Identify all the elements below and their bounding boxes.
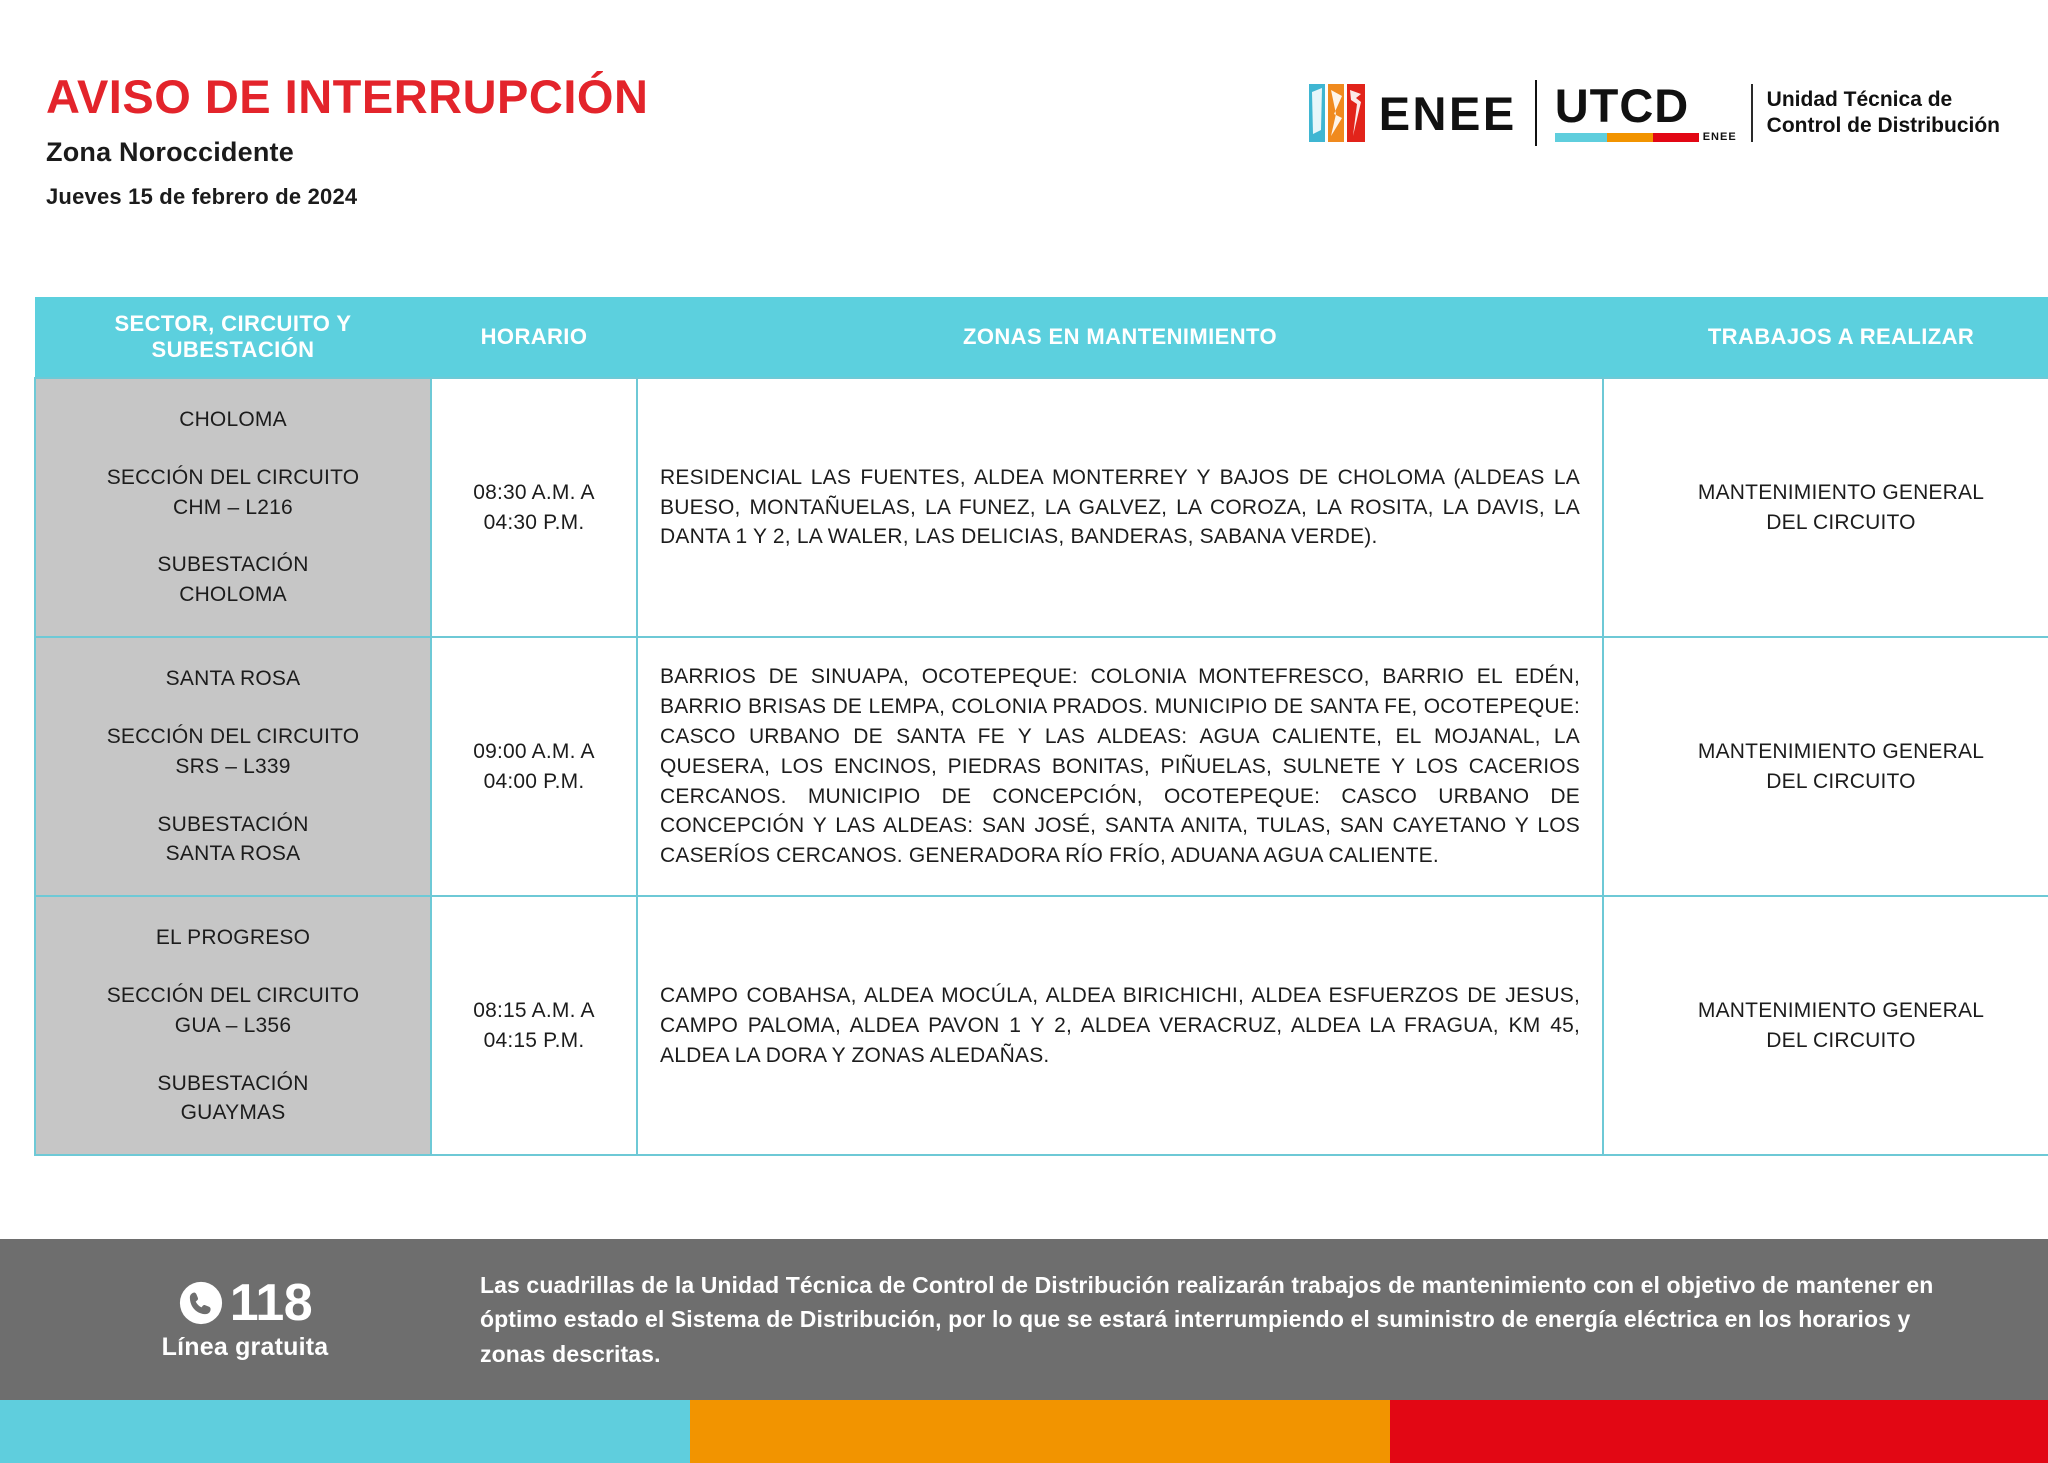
horario-end: 04:00 P.M. [438, 767, 630, 797]
hotline-number: 118 [230, 1277, 312, 1329]
cell-sector: CHOLOMA SECCIÓN DEL CIRCUITO CHM – L216 … [35, 378, 431, 637]
circuit-label: SECCIÓN DEL CIRCUITO [52, 981, 414, 1011]
zone-subtitle: Zona Noroccidente [46, 137, 648, 168]
logo-divider-1 [1535, 80, 1537, 146]
utcd-wordmark: UTCD [1555, 84, 1737, 129]
strip-segment-cyan [0, 1400, 690, 1463]
substation-label: SUBESTACIÓN [52, 550, 414, 580]
utcd-bar-red [1653, 133, 1699, 142]
table-row: EL PROGRESO SECCIÓN DEL CIRCUITO GUA – L… [35, 896, 2048, 1155]
substation-name: SANTA ROSA [52, 839, 414, 869]
trabajos-line-1: MANTENIMIENTO GENERAL [1624, 478, 2048, 508]
horario-start: 08:30 A.M. A [438, 478, 630, 508]
column-header-zonas: ZONAS EN MANTENIMIENTO [637, 297, 1603, 378]
trabajos-line-2: DEL CIRCUITO [1624, 767, 2048, 797]
hotline-row: 118 [10, 1277, 480, 1329]
cell-trabajos: MANTENIMIENTO GENERAL DEL CIRCUITO [1603, 378, 2048, 637]
sector-name: CHOLOMA [52, 405, 414, 435]
utcd-description: Unidad Técnica de Control de Distribució… [1767, 87, 2000, 138]
bottom-color-strip [0, 1400, 2048, 1463]
table-row: SANTA ROSA SECCIÓN DEL CIRCUITO SRS – L3… [35, 637, 2048, 896]
cell-horario: 08:15 A.M. A 04:15 P.M. [431, 896, 637, 1155]
horario-end: 04:15 P.M. [438, 1026, 630, 1056]
cell-trabajos: MANTENIMIENTO GENERAL DEL CIRCUITO [1603, 896, 2048, 1155]
circuit-code: CHM – L216 [52, 493, 414, 523]
hotline-block: 118 Línea gratuita [0, 1277, 480, 1362]
substation-label: SUBESTACIÓN [52, 810, 414, 840]
enee-emblem-icon [1309, 84, 1365, 142]
substation-label: SUBESTACIÓN [52, 1069, 414, 1099]
utcd-bar-orange [1607, 133, 1653, 142]
spacer [52, 435, 414, 463]
spacer [52, 953, 414, 981]
cell-zonas: CAMPO COBAHSA, ALDEA MOCÚLA, ALDEA BIRIC… [637, 896, 1603, 1155]
cell-trabajos: MANTENIMIENTO GENERAL DEL CIRCUITO [1603, 637, 2048, 896]
circuit-label: SECCIÓN DEL CIRCUITO [52, 722, 414, 752]
outage-table-wrapper: SECTOR, CIRCUITO Y SUBESTACIÓN HORARIO Z… [34, 297, 2014, 1156]
sector-name: SANTA ROSA [52, 664, 414, 694]
cell-zonas: RESIDENCIAL LAS FUENTES, ALDEA MONTERREY… [637, 378, 1603, 637]
page-footer: 118 Línea gratuita Las cuadrillas de la … [0, 1239, 2048, 1400]
horario-start: 08:15 A.M. A [438, 996, 630, 1026]
utcd-block: UTCD ENEE [1555, 84, 1737, 142]
table-head: SECTOR, CIRCUITO Y SUBESTACIÓN HORARIO Z… [35, 297, 2048, 378]
notice-date: Jueves 15 de febrero de 2024 [46, 184, 648, 210]
strip-segment-red [1390, 1400, 2048, 1463]
hotline-label: Línea gratuita [10, 1333, 480, 1362]
trabajos-line-2: DEL CIRCUITO [1624, 1026, 2048, 1056]
column-header-horario: HORARIO [431, 297, 637, 378]
table-header-row: SECTOR, CIRCUITO Y SUBESTACIÓN HORARIO Z… [35, 297, 2048, 378]
spacer [52, 522, 414, 550]
table-row: CHOLOMA SECCIÓN DEL CIRCUITO CHM – L216 … [35, 378, 2048, 637]
cell-sector: EL PROGRESO SECCIÓN DEL CIRCUITO GUA – L… [35, 896, 431, 1155]
spacer [52, 782, 414, 810]
utcd-desc-line-2: Control de Distribución [1767, 113, 2000, 139]
trabajos-line-1: MANTENIMIENTO GENERAL [1624, 996, 2048, 1026]
circuit-label: SECCIÓN DEL CIRCUITO [52, 463, 414, 493]
phone-icon [178, 1280, 224, 1326]
cell-zonas: BARRIOS DE SINUAPA, OCOTEPEQUE: COLONIA … [637, 637, 1603, 896]
spacer [52, 694, 414, 722]
cell-horario: 08:30 A.M. A 04:30 P.M. [431, 378, 637, 637]
page-header: AVISO DE INTERRUPCIÓN Zona Noroccidente … [0, 0, 2048, 280]
column-header-sector: SECTOR, CIRCUITO Y SUBESTACIÓN [35, 297, 431, 378]
circuit-code: SRS – L339 [52, 752, 414, 782]
cell-horario: 09:00 A.M. A 04:00 P.M. [431, 637, 637, 896]
logo-divider-2 [1751, 84, 1753, 142]
table-body: CHOLOMA SECCIÓN DEL CIRCUITO CHM – L216 … [35, 378, 2048, 1155]
cell-sector: SANTA ROSA SECCIÓN DEL CIRCUITO SRS – L3… [35, 637, 431, 896]
circuit-code: GUA – L356 [52, 1011, 414, 1041]
footer-note: Las cuadrillas de la Unidad Técnica de C… [480, 1268, 2048, 1372]
substation-name: GUAYMAS [52, 1098, 414, 1128]
utcd-bar-cyan [1555, 133, 1607, 142]
utcd-desc-line-1: Unidad Técnica de [1767, 87, 2000, 113]
horario-end: 04:30 P.M. [438, 508, 630, 538]
spacer [52, 1041, 414, 1069]
enee-wordmark: ENEE [1379, 90, 1517, 137]
logo-lockup: ENEE UTCD ENEE Unidad Técnica de Control… [1309, 78, 2000, 148]
utcd-color-bars: ENEE [1555, 133, 1737, 142]
column-header-trabajos: TRABAJOS A REALIZAR [1603, 297, 2048, 378]
outage-table: SECTOR, CIRCUITO Y SUBESTACIÓN HORARIO Z… [34, 297, 2048, 1156]
substation-name: CHOLOMA [52, 580, 414, 610]
page-title: AVISO DE INTERRUPCIÓN [46, 72, 648, 121]
trabajos-line-1: MANTENIMIENTO GENERAL [1624, 737, 2048, 767]
title-block: AVISO DE INTERRUPCIÓN Zona Noroccidente … [46, 72, 648, 210]
sector-name: EL PROGRESO [52, 923, 414, 953]
strip-segment-orange [690, 1400, 1390, 1463]
horario-start: 09:00 A.M. A [438, 737, 630, 767]
trabajos-line-2: DEL CIRCUITO [1624, 508, 2048, 538]
utcd-enee-tag: ENEE [1703, 133, 1737, 142]
